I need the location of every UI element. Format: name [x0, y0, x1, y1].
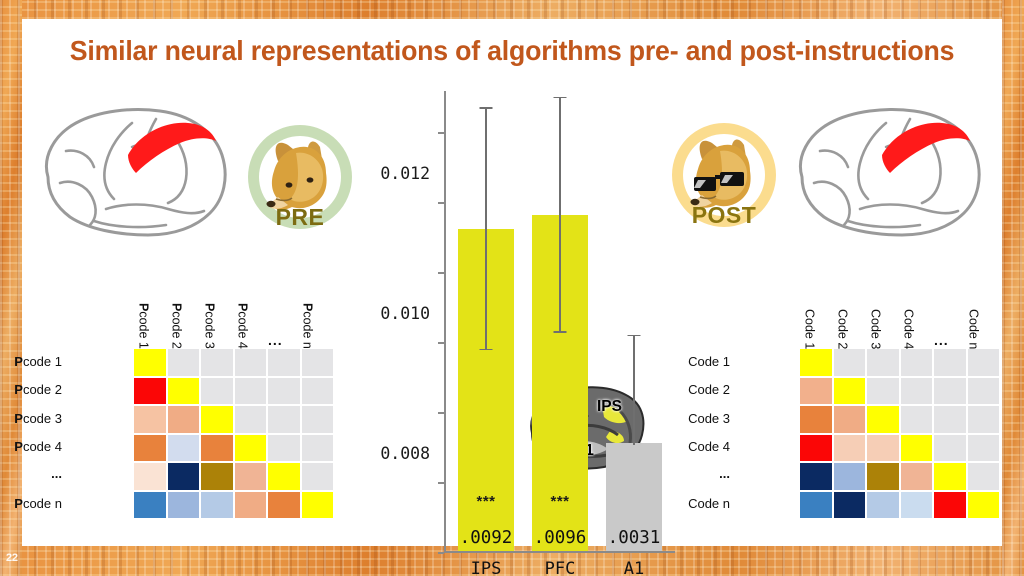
- chart-x-tick-label: A1: [624, 559, 644, 576]
- chart-bar-value-label: .0031: [608, 530, 661, 548]
- chart-error-cap-bottom: [554, 331, 567, 332]
- matrix-post-cell: [934, 378, 966, 405]
- matrix-pre-cell: [134, 349, 166, 376]
- matrix-pre-cell: [134, 378, 166, 405]
- matrix-pre-cell: [268, 349, 300, 376]
- matrix-pre-cell: [201, 492, 233, 519]
- matrix-pre-row-4: ...: [0, 467, 62, 480]
- matrix-post-col-3: Code 4: [902, 309, 915, 349]
- matrix-post-cell: [867, 378, 899, 405]
- matrix-pre-cell: [201, 463, 233, 490]
- matrix-post-row-3: Code 4: [666, 440, 730, 453]
- matrix-post-cell: [901, 406, 933, 433]
- matrix-pre-cell: [302, 435, 334, 462]
- slide-border-right: [1002, 0, 1024, 576]
- matrix-pre-cell: [235, 349, 267, 376]
- pre-badge: PRE: [248, 125, 352, 229]
- slide-root: Similar neural representations of algori…: [0, 0, 1024, 576]
- matrix-post-cell: [800, 463, 832, 490]
- matrix-pre-cell: [201, 349, 233, 376]
- page-number: 22: [6, 552, 18, 564]
- matrix-pre-row-5: Pcode n: [0, 497, 62, 510]
- matrix-pre-cell: [268, 492, 300, 519]
- chart-error-bar: [559, 98, 560, 333]
- matrix-pre-col-1: Pcode 2: [170, 303, 183, 349]
- matrix-post-cell: [800, 406, 832, 433]
- brain-illustration-post: [790, 99, 990, 244]
- matrix-pre-col-0: Pcode 1: [137, 303, 150, 349]
- matrix-post-cell: [901, 349, 933, 376]
- chart-y-axis: [444, 91, 446, 553]
- pre-badge-label: PRE: [248, 204, 352, 231]
- post-badge-label: POST: [672, 202, 776, 229]
- matrix-pre-cell: [268, 406, 300, 433]
- matrix-pre-cell: [268, 435, 300, 462]
- matrix-post-cell: [901, 463, 933, 490]
- matrix-pre-cell: [168, 435, 200, 462]
- chart-y-tick: 0.006: [438, 342, 444, 344]
- chart-error-bar: [485, 109, 486, 351]
- matrix-post-cell: [834, 492, 866, 519]
- matrix-post-cell: [934, 406, 966, 433]
- chart-y-tick: 0.012: [438, 132, 444, 134]
- matrix-post-col-5: Code n: [967, 309, 980, 349]
- matrix-pre-cell: [302, 492, 334, 519]
- chart-bar-value-label: .0092: [460, 530, 513, 548]
- chart-plot-area: PFC IPS A1 0.0000.0020.0040.0060.0080.01…: [444, 91, 656, 553]
- chart-y-tick-label: 0.008: [380, 444, 430, 463]
- matrix-pre-row-3: Pcode 4: [0, 440, 62, 453]
- matrix-pre-cell: [134, 492, 166, 519]
- matrix-post-cell: [834, 406, 866, 433]
- chart-x-axis: [444, 551, 675, 553]
- matrix-pre-cell: [168, 378, 200, 405]
- matrix-post-cell: [834, 435, 866, 462]
- chart-significance-marker: ***: [550, 494, 569, 509]
- chart-y-tick-label: 0.010: [380, 304, 430, 323]
- matrix-post-col-2: Code 3: [869, 309, 882, 349]
- matrix-post-cell: [934, 463, 966, 490]
- matrix-pre-col-3: Pcode 4: [236, 303, 249, 349]
- chart-error-cap-bottom: [480, 349, 493, 350]
- matrix-pre-row-2: Pcode 3: [0, 412, 62, 425]
- matrix-pre-cell: [268, 463, 300, 490]
- matrix-pre-col-5: Pcode n: [301, 303, 314, 349]
- matrix-pre-col-2: Pcode 3: [203, 303, 216, 349]
- brain3d-label-ips: IPS: [597, 399, 622, 415]
- chart-y-tick: 0.004: [438, 412, 444, 414]
- matrix-post-cell: [968, 463, 1000, 490]
- chart-x-tick-label: IPS: [471, 559, 502, 576]
- matrix-pre-cell: [134, 406, 166, 433]
- matrix-post-cell: [867, 349, 899, 376]
- chart-y-tick-label: 0.012: [380, 164, 430, 183]
- matrix-post-cell: [934, 435, 966, 462]
- chart-y-tick: 0.000: [438, 552, 444, 554]
- matrix-post-row-0: Code 1: [666, 355, 730, 368]
- matrix-post-cell: [834, 349, 866, 376]
- matrix-post-col-1: Code 2: [836, 309, 849, 349]
- matrix-pre-cell: [134, 463, 166, 490]
- slide-canvas: Similar neural representations of algori…: [22, 19, 1002, 546]
- matrix-post-cell: [901, 492, 933, 519]
- slide-border-top: [0, 0, 1024, 19]
- matrix-post-cell: [867, 492, 899, 519]
- matrix-post-cell: [968, 406, 1000, 433]
- matrix-post-cell: [834, 378, 866, 405]
- matrix-pre-cell: [302, 378, 334, 405]
- matrix-post-cell: [968, 349, 1000, 376]
- matrix-post-row-5: Code n: [666, 497, 730, 510]
- matrix-pre-cell: [268, 378, 300, 405]
- matrix-pre-cell: [168, 406, 200, 433]
- post-badge: POST: [672, 123, 776, 227]
- matrix-post-cell: [901, 378, 933, 405]
- matrix-post-cell: [800, 378, 832, 405]
- matrix-pre-cell: [235, 435, 267, 462]
- matrix-pre-cell: [302, 406, 334, 433]
- matrix-post-grid: [800, 349, 999, 518]
- chart-y-tick: 0.010: [438, 202, 444, 204]
- matrix-pre-cell: [235, 406, 267, 433]
- matrix-pre-row-1: Pcode 2: [0, 383, 62, 396]
- matrix-pre-cell: [235, 492, 267, 519]
- matrix-pre-cell: [168, 492, 200, 519]
- matrix-pre-row-0: Pcode 1: [0, 355, 62, 368]
- matrix-post-cell: [834, 463, 866, 490]
- matrix-post-cell: [968, 378, 1000, 405]
- chart-y-tick: 0.002: [438, 482, 444, 484]
- matrix-pre-cell: [235, 463, 267, 490]
- matrix-post-cell: [867, 406, 899, 433]
- matrix-post-cell: [934, 492, 966, 519]
- chart-error-cap-top: [554, 97, 567, 98]
- matrix-pre-cell: [168, 349, 200, 376]
- matrix-pre-cell: [302, 349, 334, 376]
- matrix-pre-cell: [201, 406, 233, 433]
- matrix-post-cell: [800, 349, 832, 376]
- matrix-pre-cell: [302, 463, 334, 490]
- matrix-post-row-1: Code 2: [666, 383, 730, 396]
- matrix-pre-cell: [134, 435, 166, 462]
- chart-x-tick-label: PFC: [545, 559, 576, 576]
- matrix-post-col-4: ...: [934, 333, 949, 347]
- matrix-post-cell: [800, 435, 832, 462]
- matrix-post-cell: [800, 492, 832, 519]
- matrix-pre-cell: [201, 435, 233, 462]
- matrix-post-col-0: Code 1: [803, 309, 816, 349]
- matrix-post-row-2: Code 3: [666, 412, 730, 425]
- chart-error-bar: [633, 336, 634, 445]
- matrix-post-cell: [968, 492, 1000, 519]
- chart-bar-value-label: .0096: [534, 530, 587, 548]
- matrix-pre-cell: [168, 463, 200, 490]
- chart-y-tick: 0.008: [438, 272, 444, 274]
- matrix-post-cell: [867, 463, 899, 490]
- matrix-post-cell: [901, 435, 933, 462]
- slide-border-left: [0, 0, 22, 576]
- matrix-post-cell: [968, 435, 1000, 462]
- matrix-pre-cell: [235, 378, 267, 405]
- matrix-pre-col-4: ...: [268, 333, 283, 347]
- matrix-post-row-4: ...: [666, 467, 730, 480]
- slide-title: Similar neural representations of algori…: [37, 35, 988, 67]
- chart-error-cap-top: [480, 107, 493, 108]
- matrix-post-cell: [934, 349, 966, 376]
- chart-significance-marker: ***: [476, 494, 495, 509]
- matrix-pre-cell: [201, 378, 233, 405]
- chart-error-cap-top: [628, 335, 641, 336]
- matrix-post-cell: [867, 435, 899, 462]
- brain-illustration-pre: [36, 99, 236, 244]
- matrix-pre-grid: [134, 349, 333, 518]
- bar-chart: PFC IPS A1 0.0000.0020.0040.0060.0080.01…: [372, 81, 682, 576]
